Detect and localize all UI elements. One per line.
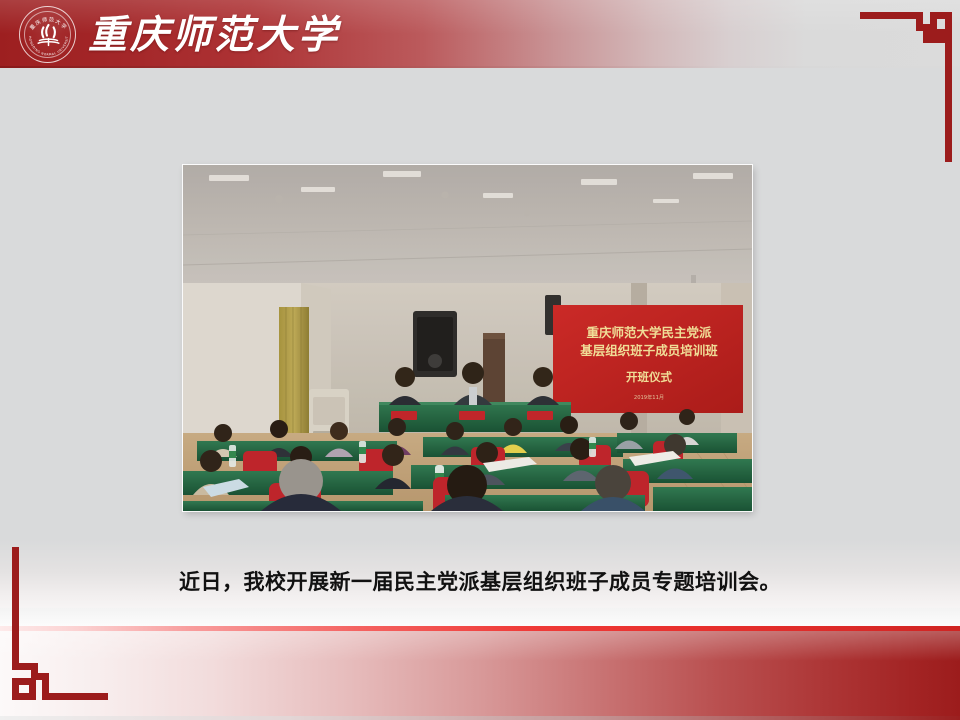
footer-sheen — [0, 631, 960, 661]
header-baseline-divider — [0, 66, 960, 68]
svg-text:重庆师范大学: 重庆师范大学 — [28, 15, 70, 31]
svg-text:CHONGQING NORMAL UNIVERSITY: CHONGQING NORMAL UNIVERSITY — [20, 7, 69, 57]
university-name-title: 重庆师范大学 — [88, 8, 340, 62]
university-seal-icon: 重庆师范大学 CHONGQING NORMAL UNIVERSITY — [19, 6, 76, 63]
news-photo: 重庆师范大学民主党派 基层组织班子成员培训班 开班仪式 2019年11月 — [183, 165, 752, 511]
conference-room-photo-artwork: 重庆师范大学民主党派 基层组织班子成员培训班 开班仪式 2019年11月 — [183, 165, 752, 511]
decorative-corner-top-right-icon — [860, 0, 960, 170]
photo-caption: 近日，我校开展新一届民主党派基层组织班子成员专题培训会。 — [0, 566, 960, 596]
footer-white-strip — [0, 608, 960, 628]
header-banner: 重庆师范大学 CHONGQING NORMAL UNIVERSITY — [0, 0, 960, 68]
decorative-corner-bottom-left-icon — [8, 547, 108, 712]
news-photo-frame: 重庆师范大学民主党派 基层组织班子成员培训班 开班仪式 2019年11月 — [183, 165, 752, 511]
slide-canvas: 重庆师范大学 CHONGQING NORMAL UNIVERSITY — [0, 0, 960, 720]
seal-artwork-icon: 重庆师范大学 CHONGQING NORMAL UNIVERSITY — [20, 7, 77, 64]
footer-bottom-edge — [0, 716, 960, 720]
